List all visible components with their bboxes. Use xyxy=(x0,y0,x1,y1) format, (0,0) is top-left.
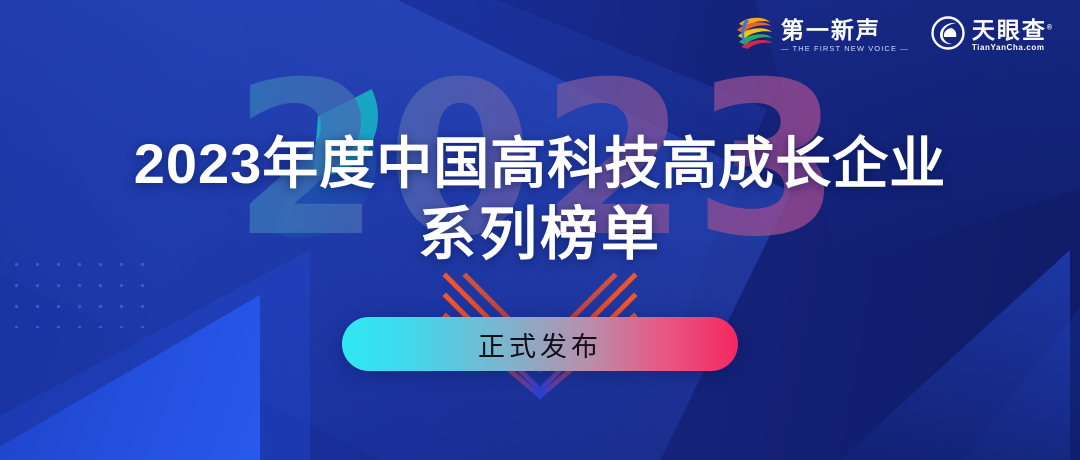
logo-diyixinsheng-tagline: — THE FIRST NEW VOICE — xyxy=(781,44,909,53)
bottom-right-triangle xyxy=(840,250,1070,460)
swirl-ribbon-logo-icon xyxy=(734,14,774,57)
logo-diyixinsheng-text: 第一新声 — THE FIRST NEW VOICE — xyxy=(781,18,909,53)
release-status-label: 正式发布 xyxy=(478,325,602,364)
logo-tianyancha-tagline: TianYanCha.com xyxy=(972,43,1054,53)
release-status-badge[interactable]: 正式发布 xyxy=(342,317,738,371)
logo-tianyancha-text: 天眼查® TianYanCha.com xyxy=(972,18,1054,53)
logo-tianyancha-name-cn: 天眼查 xyxy=(972,17,1047,43)
logo-diyixinsheng-name: 第一新声 xyxy=(781,18,909,42)
logo-tianyancha[interactable]: 天眼查® TianYanCha.com xyxy=(931,16,1054,55)
page-title: 2023年度中国高科技高成长企业 系列榜单 xyxy=(0,132,1080,268)
trademark-icon: ® xyxy=(1047,24,1054,31)
title-line-2: 系列榜单 xyxy=(0,201,1080,268)
camera-aperture-logo-icon xyxy=(931,16,965,55)
logo-tianyancha-name: 天眼查® xyxy=(972,18,1054,42)
promo-banner: 2023 xyxy=(0,0,1080,460)
logo-diyixinsheng[interactable]: 第一新声 — THE FIRST NEW VOICE — xyxy=(734,14,909,57)
logo-bar: 第一新声 — THE FIRST NEW VOICE — 天眼查® TianYa… xyxy=(734,14,1054,57)
title-line-1: 2023年度中国高科技高成长企业 xyxy=(0,132,1080,197)
